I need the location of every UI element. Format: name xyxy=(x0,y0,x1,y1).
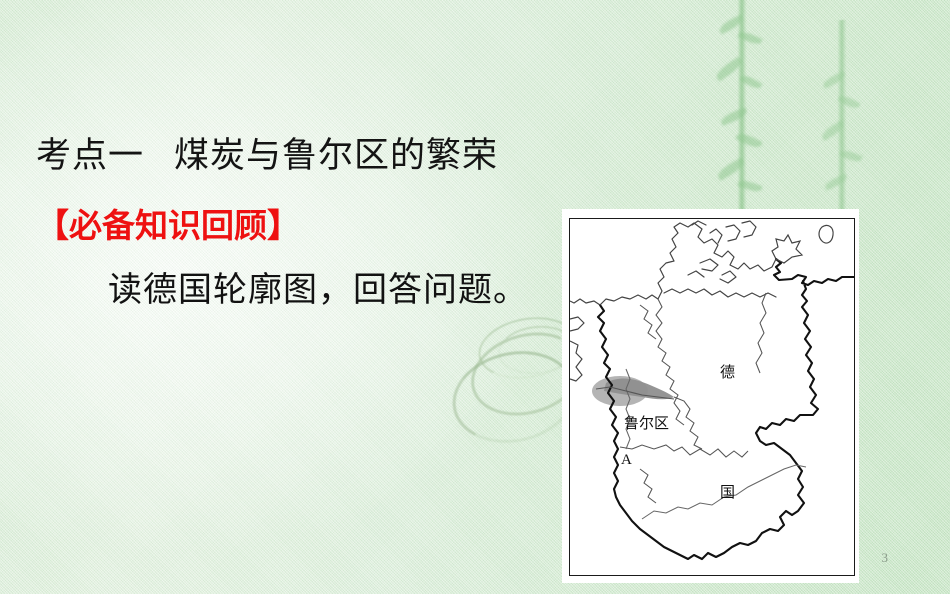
internal-boundary-1 xyxy=(656,299,684,425)
map-label-marker-a: A xyxy=(621,452,632,469)
page-number: 3 xyxy=(882,550,889,566)
western-neighbors-border xyxy=(570,295,658,381)
germany-national-border xyxy=(598,259,854,559)
peninsula-shape xyxy=(772,235,802,263)
northern-coastline xyxy=(658,221,776,299)
map-frame: 德 国 鲁尔区 A xyxy=(569,218,855,576)
slide-canvas: 考点一煤炭与鲁尔区的繁荣 【必备知识回顾】 读德国轮廓图，回答问题。 xyxy=(0,0,950,594)
instruction-text: 读德国轮廓图，回答问题。 xyxy=(108,262,528,311)
map-label-country-1: 德 xyxy=(720,361,735,382)
bamboo-stalk-1-icon xyxy=(716,0,768,214)
northwest-boundary xyxy=(640,305,656,339)
germany-outline-map xyxy=(570,219,854,575)
bamboo-stalk-2-icon xyxy=(818,20,866,212)
map-label-ruhr-region: 鲁尔区 xyxy=(624,412,669,433)
map-card: 德 国 鲁尔区 A xyxy=(562,209,859,583)
heading-prefix: 考点一 xyxy=(36,136,144,175)
elbe-river xyxy=(756,293,766,373)
island-shape xyxy=(819,225,833,243)
heading-title: 煤炭与鲁尔区的繁荣 xyxy=(174,136,498,175)
internal-boundary-3 xyxy=(620,445,748,457)
internal-boundary-4 xyxy=(640,469,656,503)
section-subheading: 【必备知识回顾】 xyxy=(36,199,300,247)
page-title: 考点一煤炭与鲁尔区的繁荣 xyxy=(36,127,498,178)
internal-boundary-2 xyxy=(674,397,702,449)
map-label-country-2: 国 xyxy=(720,481,735,502)
